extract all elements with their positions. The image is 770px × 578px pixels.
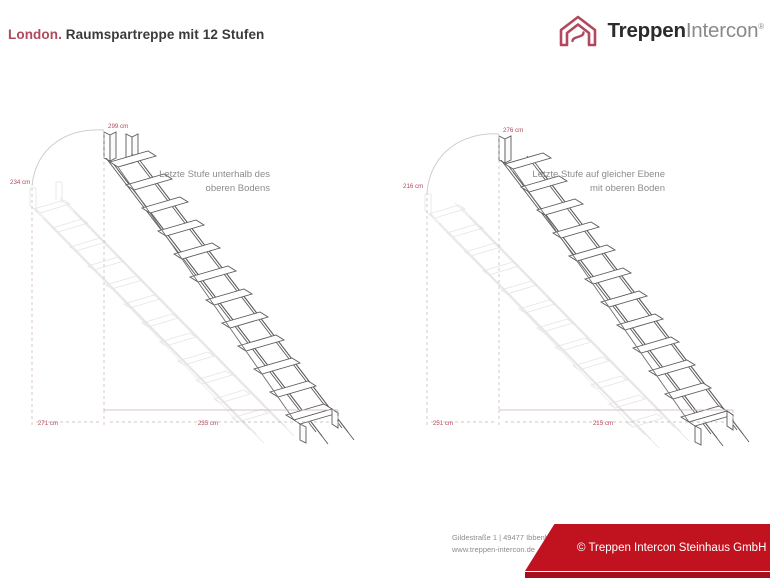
rotation-arc bbox=[427, 134, 499, 192]
brand-name-light: Intercon bbox=[686, 19, 758, 42]
page-title: London. Raumspartreppe mit 12 Stufen bbox=[8, 27, 264, 42]
drawings-area: 299 cm 234 cm 271 cm 235 cm Letzte Stufe… bbox=[0, 110, 770, 480]
copyright-text: © Treppen Intercon Steinhaus GmbH bbox=[577, 542, 766, 554]
stair-diagram-left: 299 cm 234 cm 271 cm 235 cm bbox=[0, 110, 385, 480]
page-footer: Gildestraße 1 | 49477 Ibbenbüren www.tre… bbox=[0, 524, 770, 578]
brand-wordmark: TreppenIntercon® bbox=[607, 21, 764, 42]
dimension-height-ghost: 234 cm bbox=[10, 179, 30, 186]
drawing-right: 276 cm 216 cm 251 cm 215 cm Letzte Stufe… bbox=[385, 110, 770, 480]
drawing-note-right: Letzte Stufe auf gleicher Ebene mit ober… bbox=[505, 168, 665, 196]
drawing-note-left: Letzte Stufe unterhalb des oberen Bodens bbox=[120, 168, 270, 196]
brand-name-bold: Treppen bbox=[607, 19, 685, 42]
product-description: Raumspartreppe mit 12 Stufen bbox=[66, 27, 265, 42]
brand-logo: TreppenIntercon® bbox=[558, 14, 764, 48]
dimension-height-ghost: 216 cm bbox=[403, 183, 423, 190]
page-header: London. Raumspartreppe mit 12 Stufen Tre… bbox=[0, 0, 770, 78]
ghost-staircase bbox=[30, 182, 294, 443]
house-with-s-curve-icon bbox=[558, 14, 598, 48]
dimension-height-main: 299 cm bbox=[108, 123, 128, 130]
datasheet-page: London. Raumspartreppe mit 12 Stufen Tre… bbox=[0, 0, 770, 578]
stair-diagram-right: 276 cm 216 cm 251 cm 215 cm bbox=[385, 110, 770, 480]
copyright-banner: © Treppen Intercon Steinhaus GmbH bbox=[525, 524, 770, 571]
dimension-depth-main: 215 cm bbox=[593, 420, 613, 427]
registered-mark: ® bbox=[758, 22, 764, 31]
product-model: London. bbox=[8, 27, 62, 42]
rotation-arc bbox=[32, 130, 104, 186]
dimension-height-main: 276 cm bbox=[503, 127, 523, 134]
dimension-depth-ghost: 251 cm bbox=[433, 420, 453, 427]
drawing-left: 299 cm 234 cm 271 cm 235 cm Letzte Stufe… bbox=[0, 110, 385, 480]
footer-rule-left-mask bbox=[0, 572, 525, 578]
dimension-depth-ghost: 271 cm bbox=[38, 420, 58, 427]
dimension-depth-main: 235 cm bbox=[198, 420, 218, 427]
